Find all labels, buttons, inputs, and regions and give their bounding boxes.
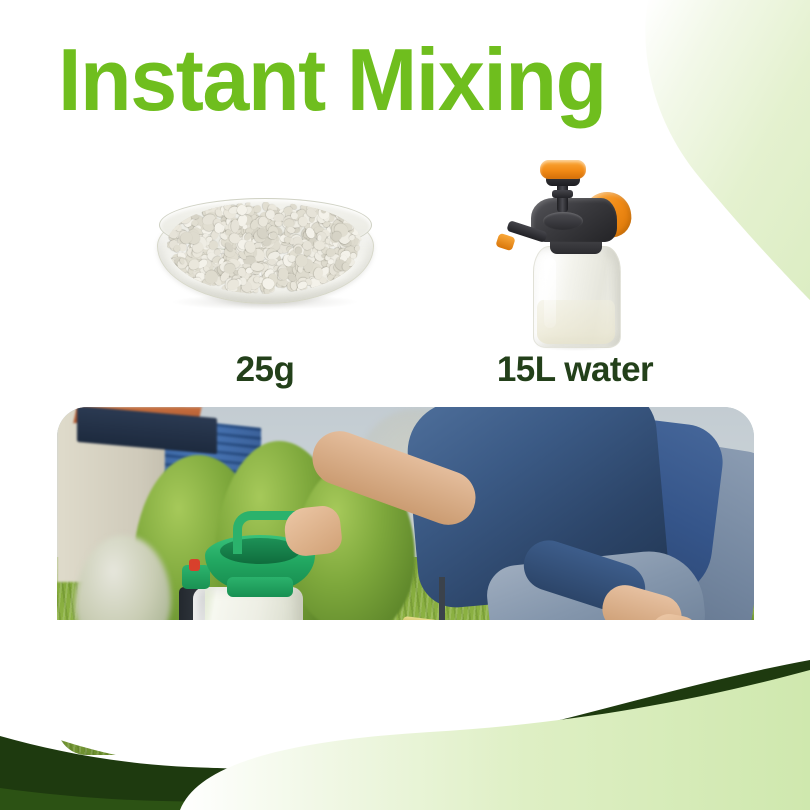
granule-field [167, 202, 362, 294]
petri-dish-icon [157, 190, 372, 310]
granules-art [105, 150, 425, 350]
ingredient-label-water: 15L water [415, 350, 735, 390]
ingredient-granules: 25g [105, 150, 425, 400]
garden-spraying-photo: BX [57, 407, 754, 755]
sprayer-art [415, 150, 735, 350]
ingredient-label-dose: 25g [105, 350, 425, 390]
pressure-sprayer-icon [495, 150, 665, 350]
ingredient-water: 15L water [415, 150, 735, 400]
ingredients-row: 25g [0, 150, 810, 400]
page-title: Instant Mixing [58, 34, 606, 126]
poster-canvas: Instant Mixing 25g [0, 0, 810, 810]
